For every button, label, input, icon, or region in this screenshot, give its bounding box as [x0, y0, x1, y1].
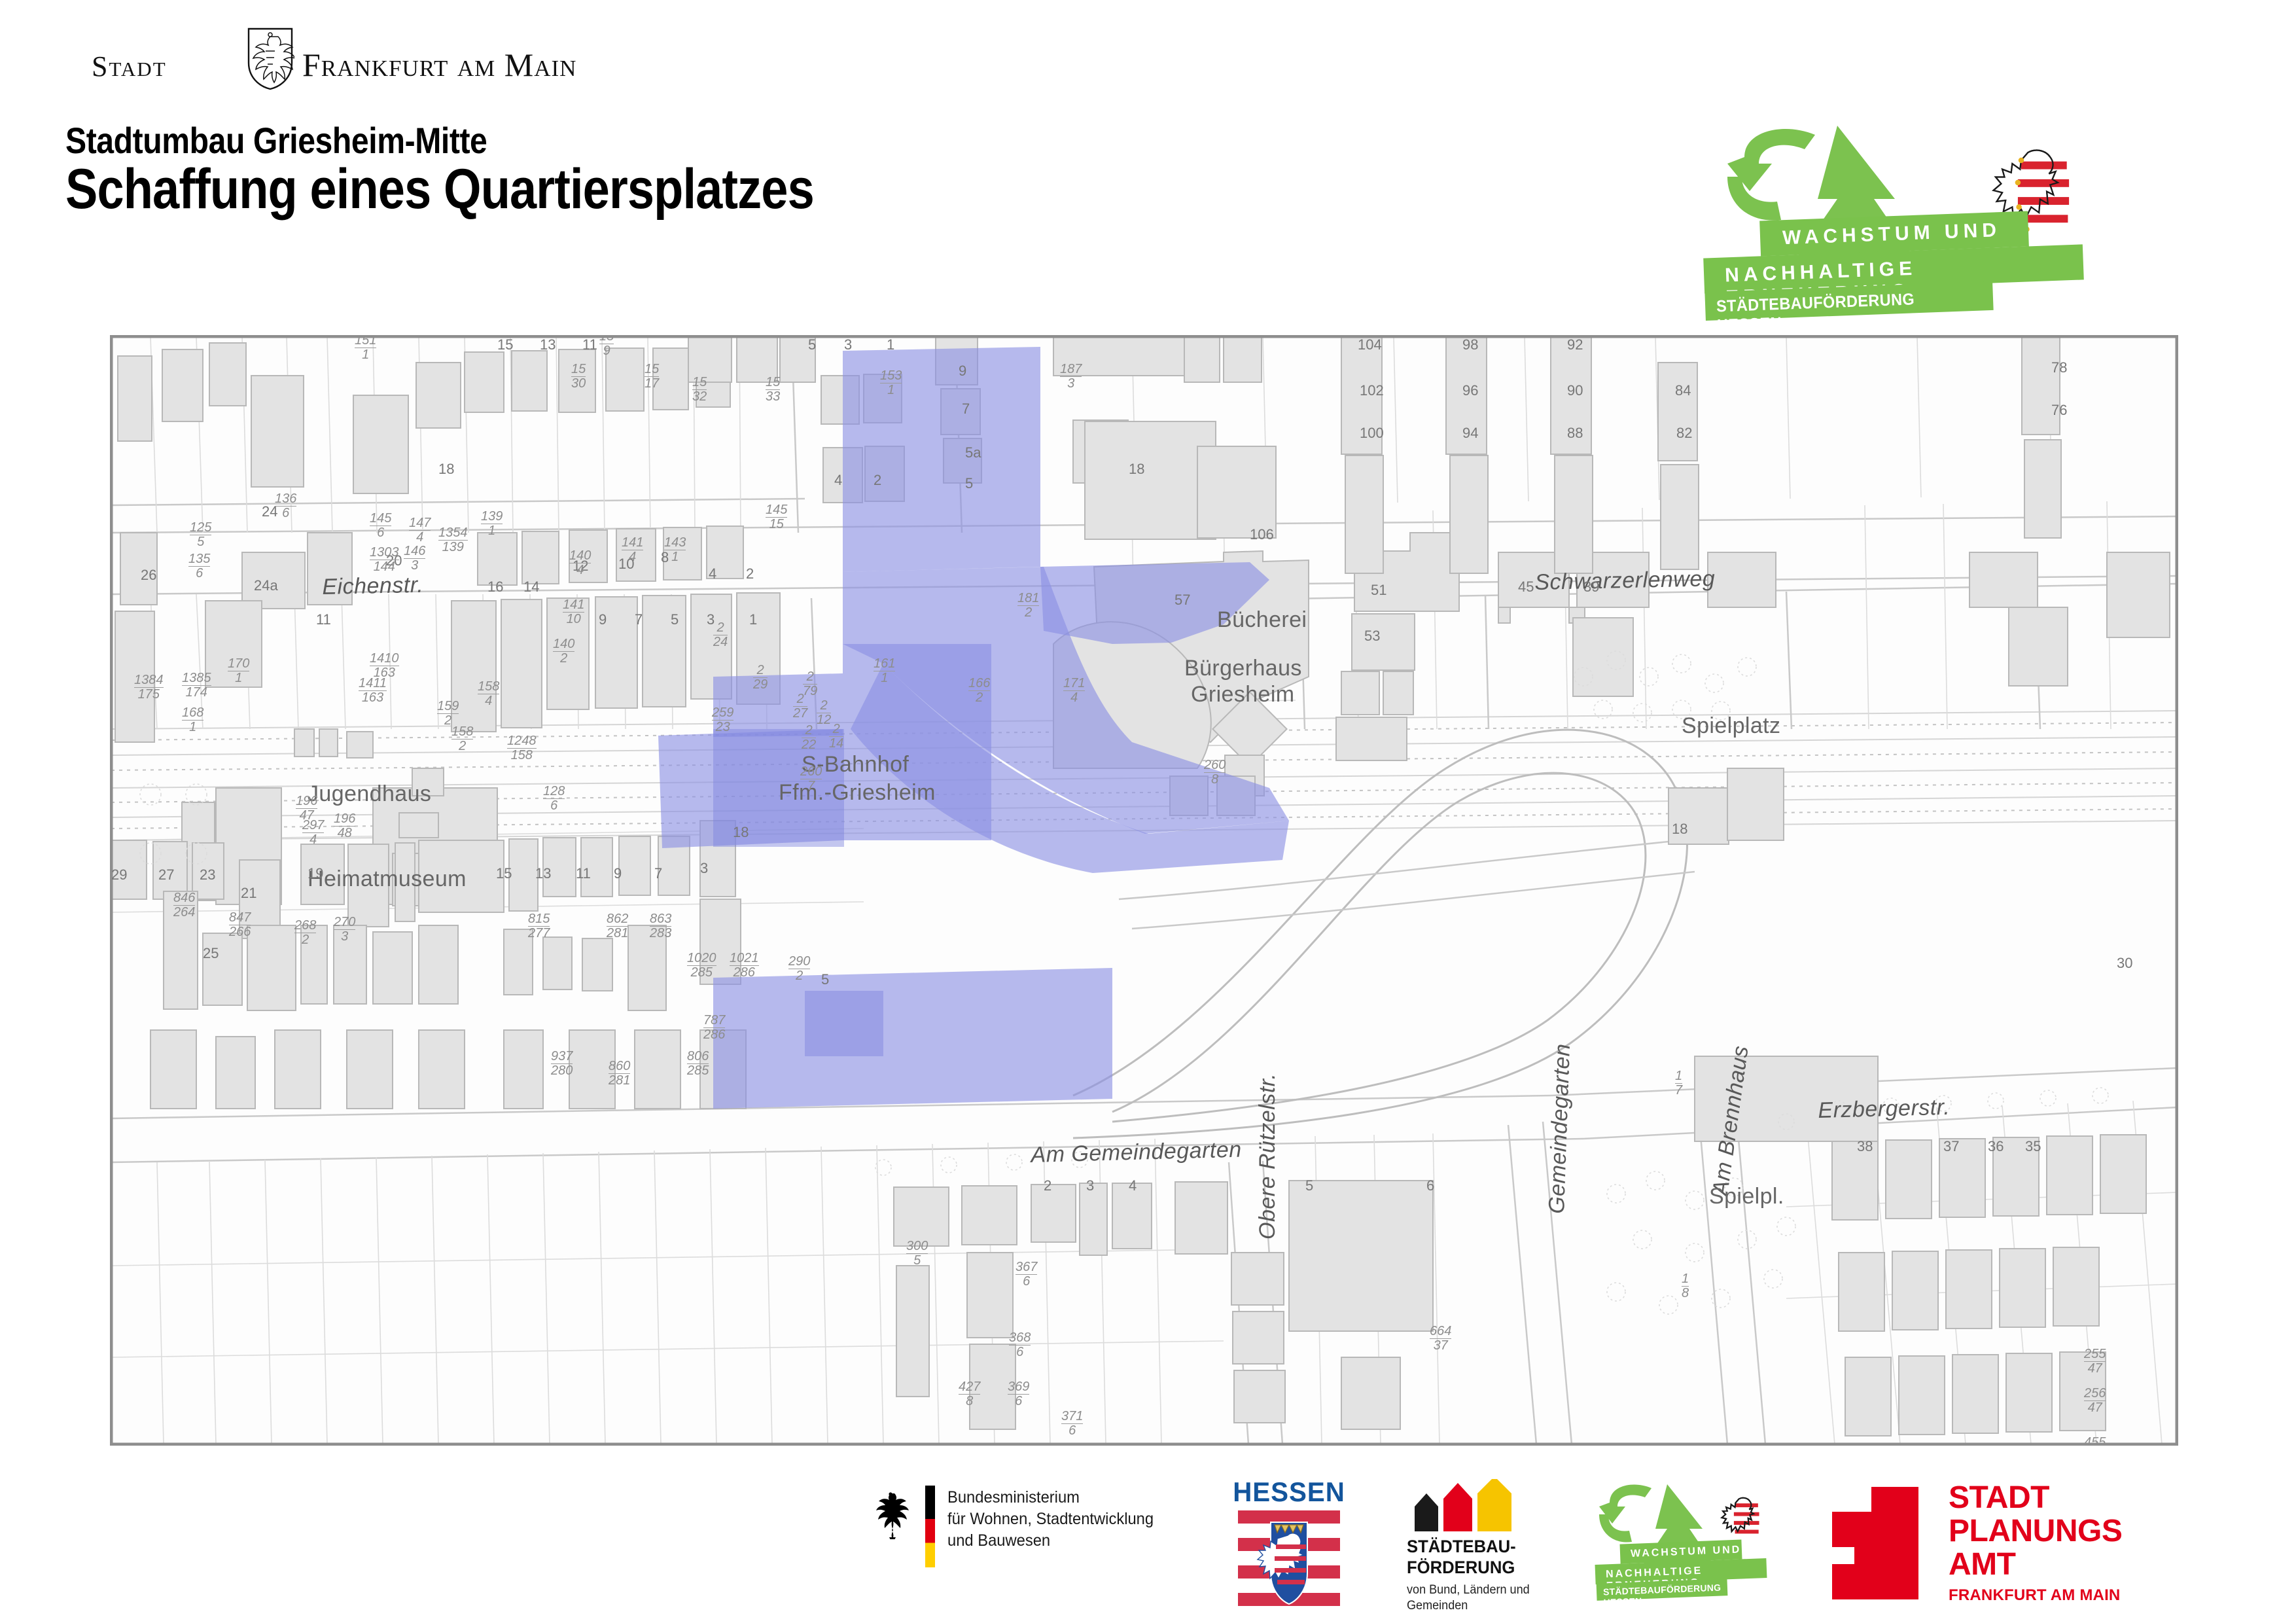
house-number: 100	[1360, 425, 1384, 442]
house-number: 38	[1857, 1138, 1873, 1155]
parcel-number: 1592	[437, 700, 459, 728]
program-logo-footer: WACHSTUM UND NACHHALTIGE ERNEUERUNG STÄD…	[1590, 1479, 1799, 1610]
spa-line-3: AMT	[1949, 1548, 2122, 1582]
staedtebaufoerderung-logo: STÄDTEBAU- FÖRDERUNG von Bund, Ländern u…	[1407, 1479, 1577, 1610]
house-number: 23	[200, 866, 215, 883]
house-number: 3	[844, 336, 852, 353]
parcel-number: 66437	[1430, 1325, 1451, 1353]
house-number: 82	[1676, 425, 1692, 442]
house-number: 9	[614, 865, 622, 882]
place-label-5: Jugendhaus	[308, 781, 431, 807]
house-number: 9	[959, 363, 966, 380]
program-footer-line3: STÄDTEBAUFÖRDERUNG HESSEN	[1597, 1578, 1728, 1608]
house-number: 102	[1360, 382, 1384, 399]
house-number: 88	[1567, 425, 1583, 442]
house-number: 2	[874, 472, 881, 489]
house-number: 37	[1943, 1138, 1959, 1155]
parcel-number: 4278	[959, 1380, 980, 1408]
house-number: 29	[111, 866, 127, 883]
parcel-number: 1812	[1017, 592, 1039, 620]
house-number: 45	[1518, 579, 1534, 596]
parcel-number: 212	[817, 699, 831, 727]
house-number: 4	[1129, 1177, 1137, 1194]
house-number: 53	[1364, 628, 1380, 645]
recycle-arrow-icon	[1599, 1485, 1651, 1543]
place-label-0: Bücherei	[1217, 607, 1307, 633]
house-number: 98	[1462, 336, 1478, 353]
house-number: 26	[141, 567, 156, 584]
place-label-1: Bürgerhaus	[1184, 656, 1302, 681]
parcel-number: 14110	[563, 598, 584, 626]
spa-subline: FRANKFURT AM MAIN	[1949, 1586, 2120, 1605]
hessen-state-logo: HESSEN	[1230, 1476, 1348, 1607]
bmwsb-line-2: für Wohnen, Stadtentwicklung	[947, 1508, 1154, 1530]
parcel-number: 1701	[228, 657, 249, 685]
parcel-number: 1354139	[438, 526, 468, 554]
house-number: 39	[1583, 579, 1599, 596]
bmwsb-line-1: Bundesministerium	[947, 1487, 1154, 1508]
staedtebau-title-2: FÖRDERUNG	[1407, 1558, 1516, 1578]
parcel-number: 860281	[609, 1060, 630, 1088]
frankfurt-eagle-crest-icon	[246, 27, 294, 90]
bmwsb-line-3: und Bauwesen	[947, 1530, 1154, 1552]
parcel-number: 1681	[182, 706, 203, 734]
house-number: 78	[2051, 359, 2067, 376]
parcel-number: 25923	[712, 706, 733, 734]
house-number: 11	[576, 865, 591, 882]
house-number: 4	[709, 565, 716, 582]
house-number: 21	[241, 885, 256, 902]
parcel-number: 1410163	[370, 652, 399, 680]
house-number: 7	[654, 865, 662, 882]
house-number: 76	[2051, 402, 2067, 419]
house-number: 18	[1672, 821, 1687, 838]
parcel-number: 3716	[1061, 1410, 1083, 1438]
parcel-number: 3696	[1008, 1380, 1029, 1408]
hessen-lion-icon	[1722, 1498, 1759, 1534]
house-number: 3	[700, 860, 708, 877]
parcel-number: 19648	[334, 812, 355, 840]
staedtebau-title-1: STÄDTEBAU-	[1407, 1537, 1516, 1558]
parcel-number: 2682	[294, 919, 316, 947]
parcel-number: 2902	[788, 955, 810, 983]
bmwsb-text: Bundesministerium für Wohnen, Stadtentwi…	[947, 1487, 1154, 1552]
parcel-number: 787286	[703, 1014, 725, 1042]
program-logo-header: WACHSTUM UND NACHHALTIGE ERNEUERUNG STÄD…	[1699, 118, 2157, 327]
house-number: 30	[2117, 955, 2132, 972]
house-number: 84	[1675, 382, 1691, 399]
house-number: 27	[158, 866, 174, 883]
house-number: 7	[962, 401, 970, 418]
parcel-number: 159	[599, 335, 614, 358]
page-header: Stadt Frankfurt am Main Stadtumbau Gries…	[0, 0, 2296, 308]
house-number: 35	[2025, 1138, 2041, 1155]
parcel-number: 1385174	[182, 671, 211, 700]
place-label-2: Griesheim	[1191, 682, 1295, 707]
street-label-3: Erzbergerstr.	[1818, 1095, 1951, 1124]
recycle-arrow-icon	[1727, 129, 1815, 221]
house-number: 9	[599, 611, 607, 628]
parcel-number: 1662	[968, 677, 990, 705]
parcel-number: 1431	[664, 536, 686, 564]
spa-line-1: STADT	[1949, 1482, 2122, 1515]
place-label-6: Heimatmuseum	[308, 866, 467, 892]
house-number: 14	[523, 579, 539, 596]
house-number: 5	[965, 475, 973, 492]
house-number: 24a	[254, 577, 278, 594]
staedtebau-sub: von Bund, Ländern und Gemeinden	[1407, 1582, 1530, 1614]
house-number: 25	[203, 945, 219, 962]
house-number: 1	[749, 611, 757, 628]
parcel-number: 1873	[1060, 363, 1082, 391]
house-number: 19	[308, 865, 323, 882]
house-number: 3	[1086, 1177, 1094, 1194]
place-label-8: Spielpl.	[1709, 1184, 1784, 1209]
parcel-number: 815277	[528, 912, 550, 940]
house-number: 7	[635, 611, 643, 628]
hessen-wordmark: HESSEN	[1233, 1476, 1346, 1508]
parcel-number: 806285	[687, 1050, 709, 1078]
house-number: 2	[746, 565, 754, 582]
city-logo-word-right: Frankfurt am Main	[302, 46, 576, 84]
house-number: 106	[1250, 526, 1274, 543]
program-logo-line3: STÄDTEBAUFÖRDERUNG HESSEN	[1704, 282, 1977, 336]
parcel-number: 1356	[188, 552, 210, 580]
german-flag-bar-icon	[925, 1486, 935, 1567]
cadastral-map[interactable]: Eichenstr.SchwarzerlenwegAm Gemeindegart…	[110, 335, 2178, 1446]
house-number: 16	[487, 579, 503, 596]
parcel-number: 862281	[607, 912, 628, 940]
bundesadler-icon	[870, 1492, 911, 1539]
street-label-0: Eichenstr.	[322, 573, 424, 600]
parcel-number: 1517	[645, 363, 659, 391]
parcel-number: 222	[802, 724, 816, 752]
parcel-number: 1584	[478, 680, 499, 708]
parcel-number: 1384175	[134, 673, 164, 702]
parcel-number: 2974	[302, 819, 324, 847]
parcel-number: 224	[713, 621, 728, 649]
house-number: 5	[808, 336, 816, 353]
staedtebau-title: STÄDTEBAU- FÖRDERUNG	[1407, 1537, 1516, 1578]
staedtebau-sub-1: von Bund, Ländern und	[1407, 1582, 1530, 1598]
house-number: 36	[1988, 1138, 2004, 1155]
parcel-number: 17	[1675, 1069, 1682, 1097]
parcel-number: 2607	[800, 765, 822, 793]
parcel-number: 1402	[553, 637, 574, 666]
house-number: 13	[540, 336, 556, 353]
house-number: 18	[438, 461, 454, 478]
parcel-number: 1021286	[730, 952, 759, 980]
house-number: 18	[733, 824, 749, 841]
house-number: 104	[1358, 336, 1382, 353]
parcel-number: 1611	[874, 657, 895, 685]
parcel-number: 1248158	[507, 734, 537, 762]
footer-logo-strip: Bundesministerium für Wohnen, Stadtentwi…	[0, 1472, 2296, 1623]
house-number: 15	[496, 865, 512, 882]
house-number: 5a	[965, 444, 981, 461]
house-number: 11	[582, 336, 597, 353]
parcel-number: 846264	[173, 891, 195, 919]
house-number: 2	[1044, 1177, 1051, 1194]
house-number: 96	[1462, 382, 1478, 399]
stadtplanungsamt-wordmark: STADT PLANUNGS AMT	[1949, 1482, 2122, 1582]
bmwsb-logo: Bundesministerium für Wohnen, Stadtentwi…	[870, 1482, 1178, 1573]
parcel-number: 1286	[543, 785, 565, 813]
parcel-number: 1532	[692, 376, 707, 404]
parcel-number: 25647	[2084, 1387, 2106, 1415]
parcel-number: 1411163	[359, 677, 387, 705]
parcel-number: 1533	[766, 376, 780, 404]
parcel-number: 937280	[551, 1050, 573, 1078]
stadtplanungsamt-mark-icon	[1832, 1487, 1918, 1599]
house-number: 4	[834, 472, 842, 489]
parcel-number: 227	[793, 692, 807, 721]
parcel-number: 25547	[2084, 1347, 2106, 1376]
parcel-number: 45548	[2084, 1436, 2106, 1446]
house-number: 5	[671, 611, 679, 628]
parcel-number: 1530	[571, 363, 586, 391]
house-number: 1	[887, 336, 894, 353]
parcel-number: 1531	[880, 369, 902, 397]
house-number: 15	[497, 336, 513, 353]
parcel-number: 14515	[766, 503, 787, 531]
parcel-number: 1456	[370, 512, 391, 540]
parcel-number: 1463	[404, 544, 425, 573]
house-number: 90	[1567, 382, 1583, 399]
house-number: 18	[1129, 461, 1144, 478]
house-number: 51	[1371, 582, 1386, 599]
three-houses-icon	[1407, 1479, 1531, 1531]
spa-line-2: PLANUNGS	[1949, 1515, 2122, 1548]
stadtplanungsamt-logo: STADT PLANUNGS AMT FRANKFURT AM MAIN	[1832, 1482, 2172, 1606]
house-number: 94	[1462, 425, 1478, 442]
parcel-number: 1511	[355, 335, 376, 362]
parcel-number: 18	[1682, 1272, 1689, 1300]
parcel-number: 1303144	[370, 546, 399, 574]
city-logo-word-left: Stadt	[92, 50, 167, 83]
house-number: 92	[1567, 336, 1583, 353]
house-number: 6	[1426, 1177, 1434, 1194]
house-number: 11	[316, 611, 331, 628]
street-label-4: Obere Rützelstr.	[1255, 1073, 1280, 1240]
parcel-number: 3686	[1009, 1331, 1031, 1359]
parcel-number: 2703	[334, 916, 355, 944]
parcel-number: 1391	[481, 510, 503, 538]
parcel-number: 3005	[906, 1240, 928, 1268]
house-number: 57	[1174, 592, 1190, 609]
parcel-number: 229	[753, 664, 768, 692]
parcel-number: 214	[829, 722, 843, 751]
parcel-number: 863283	[650, 912, 671, 940]
place-label-7: Spielplatz	[1682, 713, 1780, 739]
parcel-number: 2608	[1204, 758, 1226, 787]
parcel-number: 1366	[275, 492, 296, 520]
staedtebau-sub-2: Gemeinden	[1407, 1598, 1530, 1614]
city-of-frankfurt-logo: Stadt Frankfurt am Main	[92, 33, 523, 92]
house-number: 13	[535, 865, 551, 882]
house-number: 5	[821, 971, 829, 988]
parcel-number: 1582	[451, 725, 473, 753]
parcel-number: 847266	[229, 911, 251, 939]
parcel-number: 3676	[1016, 1260, 1037, 1289]
page-subtitle: Stadtumbau Griesheim-Mitte	[65, 119, 487, 162]
parcel-number: 1020285	[687, 952, 716, 980]
house-number: 5	[1305, 1177, 1313, 1194]
parcel-number: 1714	[1063, 677, 1085, 705]
page-title: Schaffung eines Quartiersplatzes	[65, 157, 814, 222]
parcel-number: 1414	[622, 536, 643, 564]
parcel-number: 1404	[569, 549, 591, 577]
hessen-shield-icon	[1237, 1510, 1341, 1609]
street-label-1: Schwarzerlenweg	[1534, 566, 1716, 596]
parcel-number: 1255	[190, 521, 211, 549]
parcel-number: 1474	[409, 516, 431, 544]
